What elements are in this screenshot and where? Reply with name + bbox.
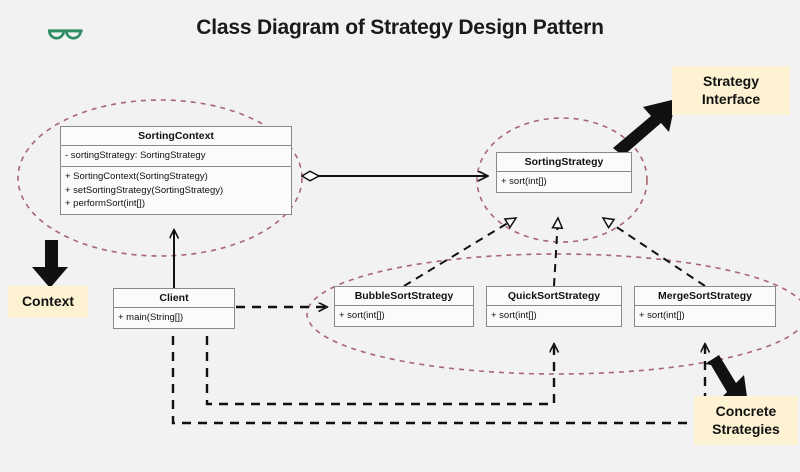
methods-compartment: + SortingContext(SortingStrategy) + setS… — [61, 167, 291, 214]
callout-line: Strategy — [682, 73, 780, 91]
class-method: + setSortingStrategy(SortingStrategy) — [65, 184, 287, 198]
class-name: QuickSortStrategy — [487, 287, 621, 306]
diagram-canvas: Class Diagram of Strategy Design Pattern — [0, 0, 800, 472]
uml-class-client[interactable]: Client + main(String[]) — [113, 288, 235, 329]
class-method: + sort(int[]) — [639, 309, 771, 323]
uml-class-mergesortstrategy[interactable]: MergeSortStrategy + sort(int[]) — [634, 286, 776, 327]
callout-context: Context — [8, 286, 88, 318]
methods-compartment: + main(String[]) — [114, 308, 234, 328]
class-attribute: - sortingStrategy: SortingStrategy — [65, 149, 287, 163]
class-method: + sort(int[]) — [339, 309, 469, 323]
relation-client-quick — [207, 336, 554, 404]
methods-compartment: + sort(int[]) — [487, 306, 621, 326]
uml-class-sortingstrategy[interactable]: SortingStrategy + sort(int[]) — [496, 152, 632, 193]
class-name: BubbleSortStrategy — [335, 287, 473, 306]
attributes-compartment: - sortingStrategy: SortingStrategy — [61, 146, 291, 167]
methods-compartment: + sort(int[]) — [497, 172, 631, 192]
class-name: Client — [114, 289, 234, 308]
relation-client-merge — [173, 336, 705, 423]
uml-class-bubblesortstrategy[interactable]: BubbleSortStrategy + sort(int[]) — [334, 286, 474, 327]
callout-strategy-interface: Strategy Interface — [672, 66, 790, 115]
callout-line: Context — [18, 293, 78, 311]
class-name: MergeSortStrategy — [635, 287, 775, 306]
class-name: SortingStrategy — [497, 153, 631, 172]
class-method: + sort(int[]) — [491, 309, 617, 323]
class-method: + SortingContext(SortingStrategy) — [65, 170, 287, 184]
callout-line: Interface — [682, 91, 780, 109]
callout-concrete-strategies: Concrete Strategies — [694, 396, 798, 445]
relation-merge-strategy — [603, 218, 705, 286]
callout-line: Strategies — [704, 421, 788, 439]
callout-arrow-strategy-interface — [613, 99, 676, 156]
callout-arrow-context — [32, 240, 68, 288]
uml-class-quicksortstrategy[interactable]: QuickSortStrategy + sort(int[]) — [486, 286, 622, 327]
class-method: + sort(int[]) — [501, 175, 627, 189]
relation-bubble-strategy — [404, 218, 516, 286]
callout-line: Concrete — [704, 403, 788, 421]
class-name: SortingContext — [61, 127, 291, 146]
relation-quick-strategy — [554, 218, 558, 286]
methods-compartment: + sort(int[]) — [335, 306, 473, 326]
class-method: + performSort(int[]) — [65, 197, 287, 211]
methods-compartment: + sort(int[]) — [635, 306, 775, 326]
uml-class-sortingcontext[interactable]: SortingContext - sortingStrategy: Sortin… — [60, 126, 292, 215]
class-method: + main(String[]) — [118, 311, 230, 325]
